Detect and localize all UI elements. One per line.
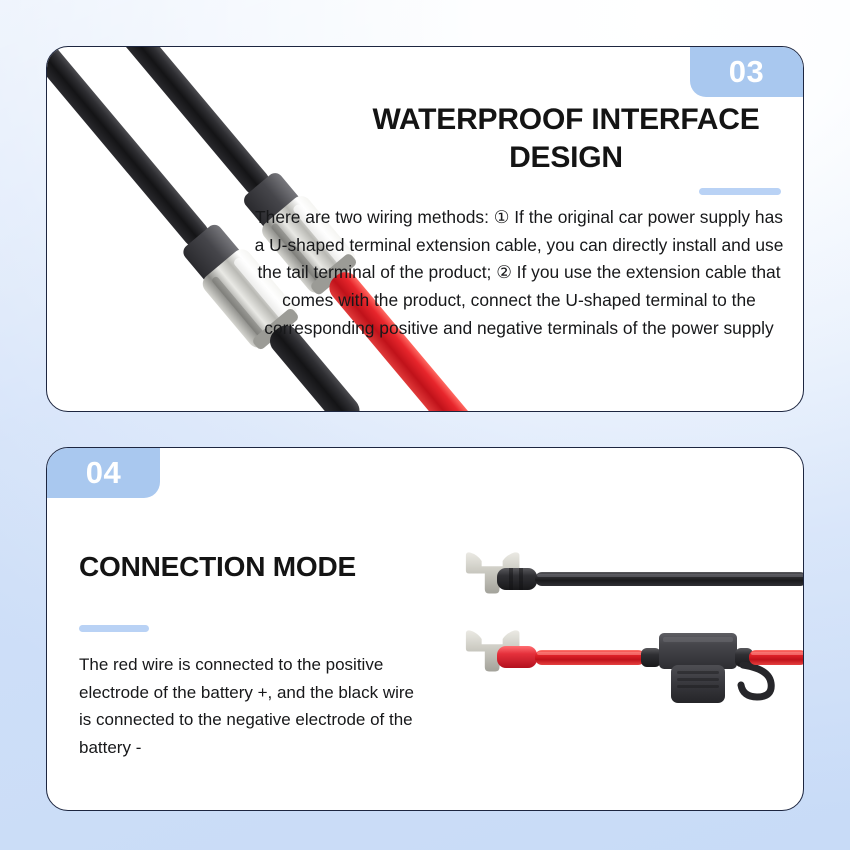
accent-rule-04: [79, 625, 149, 632]
black-branch: [466, 552, 804, 593]
wire-harness-image: [447, 543, 804, 733]
section-body-04: The red wire is connected to the positiv…: [79, 651, 429, 761]
section-number-badge-03: 03: [690, 47, 803, 97]
section-heading-03: WATERPROOF INTERFACE DESIGN: [351, 101, 781, 178]
section-number-badge-04: 04: [47, 448, 160, 498]
section-body-03: There are two wiring methods: ① If the o…: [249, 204, 789, 342]
section-card-04: 04 CONNECTION MODE The red wire is conne…: [46, 447, 804, 811]
red-branch: [466, 630, 804, 703]
infographic-page: 03 WATERPROOF INTERFACE DESIGN There are…: [0, 0, 850, 850]
section-heading-04: CONNECTION MODE: [79, 551, 356, 583]
accent-rule-03: [699, 188, 781, 195]
section-card-03: 03 WATERPROOF INTERFACE DESIGN There are…: [46, 46, 804, 412]
